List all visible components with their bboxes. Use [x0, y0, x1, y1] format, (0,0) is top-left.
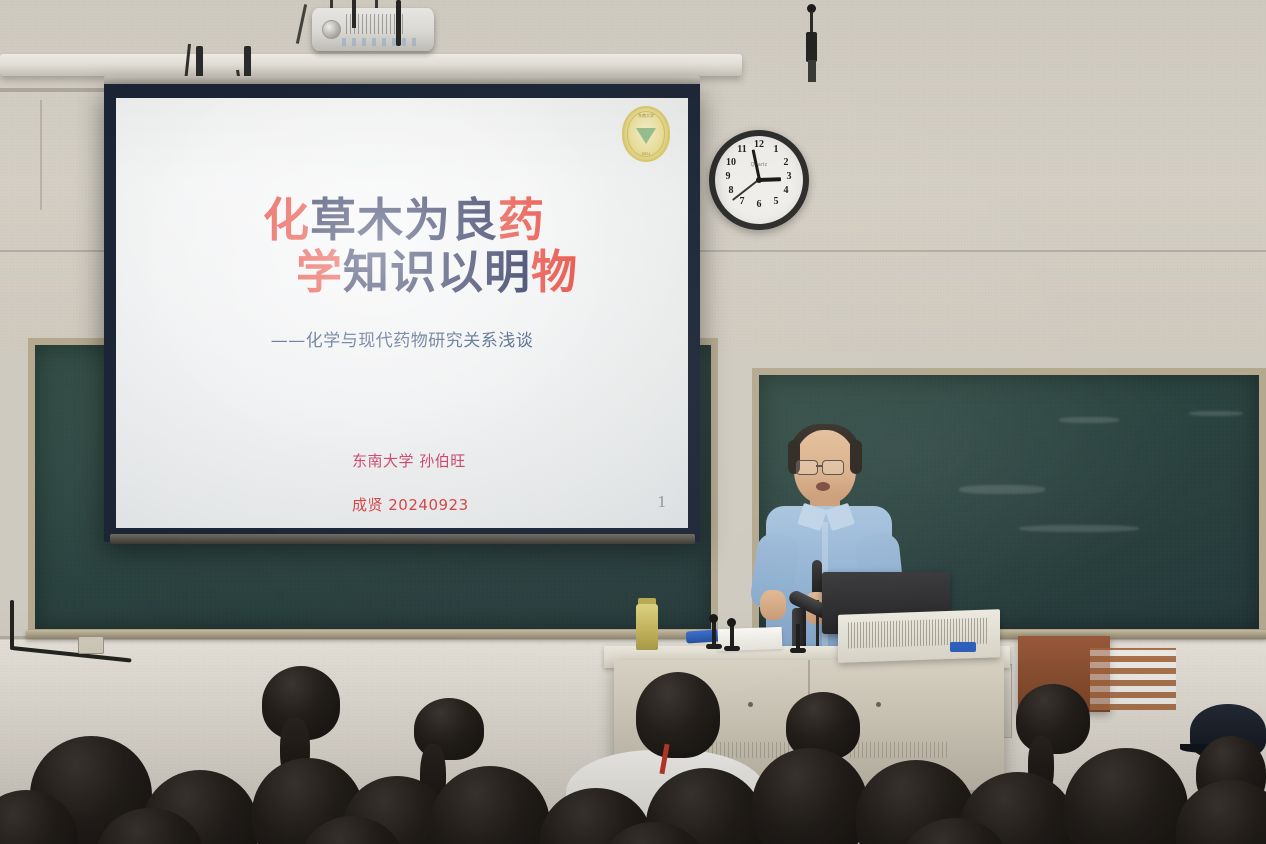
- fluorescent-tube-light: [0, 54, 742, 76]
- university-logo-icon: 东南大学 SEU: [622, 106, 670, 162]
- blue-desk-object: [950, 642, 976, 652]
- presentation-slide: 东南大学 SEU 化草木为良药 学知识以明物 ——化学与现代药物研究关系浅谈 东…: [116, 98, 688, 528]
- podium-knob[interactable]: [876, 702, 881, 707]
- clock-hour-hand: [759, 177, 781, 182]
- ceiling-projector: [312, 8, 434, 51]
- title-l1-seg-1: 化: [263, 193, 310, 247]
- slide-subtitle: ——化学与现代药物研究关系浅谈: [116, 326, 688, 351]
- clock-center-pin: [756, 177, 762, 183]
- ceiling-rail-vertical: [0, 100, 42, 210]
- wall-cable: [10, 600, 14, 650]
- glasses-bridge: [816, 465, 822, 467]
- projector-cable: [352, 0, 356, 28]
- title-l2-seg-3: 物: [531, 245, 578, 299]
- podium-knob[interactable]: [748, 702, 753, 707]
- logo-triangle: [636, 128, 656, 144]
- clock-numeral-5: 5: [769, 197, 783, 207]
- logo-bottom-text: SEU: [624, 151, 668, 156]
- podium-vent: [700, 742, 790, 758]
- clock-numeral-1: 1: [769, 145, 783, 155]
- wall-clock: Quartz 12 1 2 3 4 5 6 7 8 9 10 11: [709, 130, 809, 230]
- clock-numeral-4: 4: [779, 186, 793, 196]
- podium-panel-divider: [808, 660, 810, 790]
- slide-title-block: 化草木为良药 学知识以明物: [116, 194, 688, 298]
- slide-author: 东南大学 孙伯旺: [352, 450, 466, 471]
- slide-title-line-2: 学知识以明物: [116, 246, 688, 298]
- projector-label: [342, 38, 422, 46]
- lecturer-hand-left: [760, 590, 786, 620]
- projection-screen: 东南大学 SEU 化草木为良药 学知识以明物 ——化学与现代药物研究关系浅谈 东…: [104, 84, 700, 542]
- clock-numeral-8: 8: [724, 186, 738, 196]
- lecturer-hair-side: [850, 440, 862, 474]
- clock-numeral-9: 9: [721, 172, 735, 182]
- light-bracket: [196, 46, 203, 80]
- desk-microphone-head: [709, 614, 718, 623]
- clock-numeral-3: 3: [782, 172, 796, 182]
- slide-title-line-1: 化草木为良药: [116, 194, 688, 246]
- desk-microphone: [796, 624, 800, 650]
- desk-microphone-base: [790, 648, 806, 653]
- desk-microphone-head: [727, 618, 736, 627]
- clock-numeral-11: 11: [735, 145, 749, 155]
- light-bracket: [244, 46, 251, 80]
- camera-body: [806, 32, 817, 62]
- slide-page-number: 1: [658, 492, 667, 512]
- lecture-hall-photo: Quartz 12 1 2 3 4 5 6 7 8 9 10 11: [0, 0, 1266, 844]
- logo-top-text: 东南大学: [624, 113, 668, 119]
- clock-numeral-10: 10: [724, 158, 738, 168]
- clock-numeral-2: 2: [779, 158, 793, 168]
- clock-brand: Quartz: [751, 162, 768, 168]
- projector-lens-icon: [322, 20, 341, 39]
- title-l1-seg-2: 草木为良: [310, 193, 498, 247]
- wood-railing: [1090, 648, 1176, 710]
- desk-microphone-base: [706, 644, 722, 649]
- glasses-icon: [822, 460, 844, 475]
- desk-microphone-base: [724, 646, 740, 651]
- podium-vent: [850, 742, 950, 758]
- lecturer-mouth: [816, 482, 830, 491]
- title-l2-seg-1: 学: [296, 245, 343, 299]
- title-l2-seg-2: 知识以明: [343, 245, 531, 299]
- podium-computer: [838, 609, 1000, 663]
- camera-bracket: [808, 60, 816, 82]
- clock-numeral-7: 7: [735, 197, 749, 207]
- projector-cable: [396, 0, 401, 46]
- slide-datestamp: 成贤 20240923: [352, 494, 469, 515]
- desk-microphone: [712, 620, 716, 646]
- water-bottle: [636, 604, 658, 650]
- wall-camera: [806, 4, 817, 80]
- glasses-icon: [796, 460, 818, 475]
- screen-bottom-bar: [110, 534, 695, 544]
- clock-numeral-6: 6: [752, 200, 766, 210]
- title-l1-seg-3: 药: [498, 193, 545, 247]
- wall-socket: [78, 636, 104, 654]
- left-chalk-tray: [26, 630, 722, 639]
